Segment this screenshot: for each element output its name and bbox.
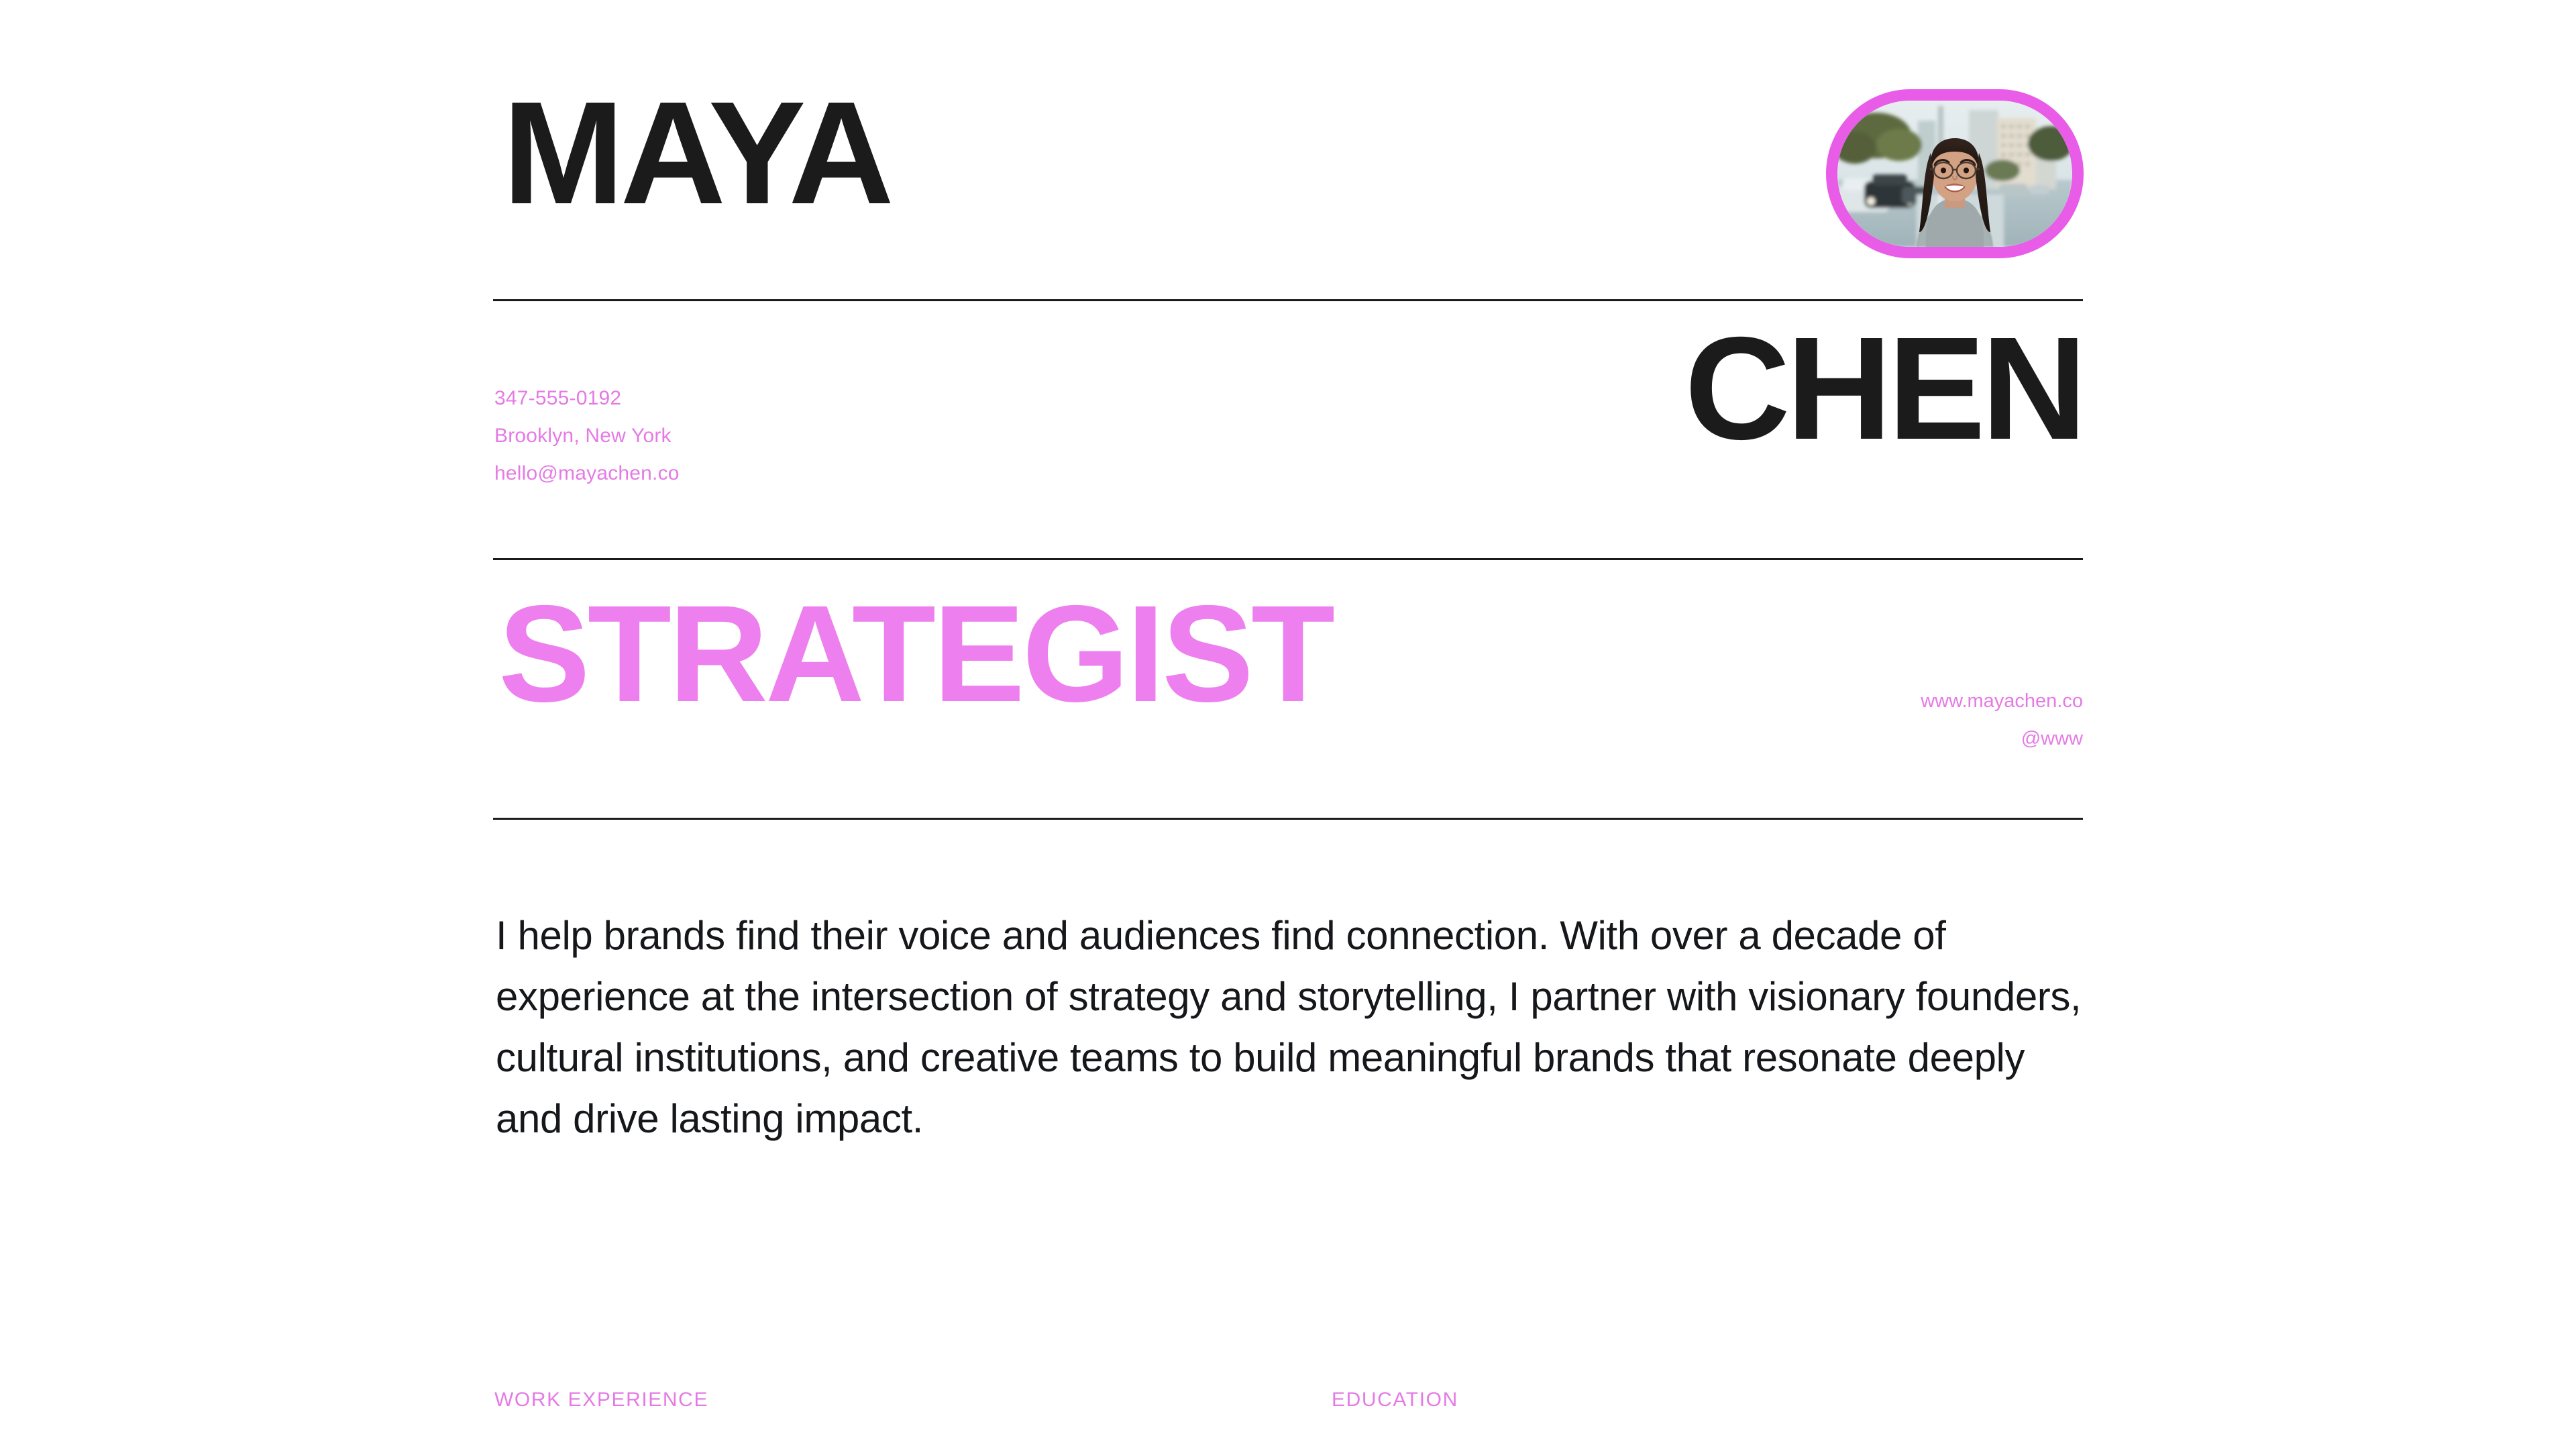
contact-list: 347-555-0192 Brooklyn, New York hello@ma…: [494, 380, 680, 492]
role-row: STRATEGIST www.mayachen.co @www: [493, 558, 2083, 818]
avatar: [1826, 89, 2084, 258]
contact-row: 347-555-0192 Brooklyn, New York hello@ma…: [493, 299, 2083, 558]
contact-item-email[interactable]: hello@mayachen.co: [494, 455, 680, 492]
section-header-work-experience: WORK EXPERIENCE: [494, 1385, 708, 1415]
portrait-photo: [1837, 101, 2072, 247]
sections-row: WORK EXPERIENCE EDUCATION: [493, 1385, 2083, 1449]
section-header-education: EDUCATION: [1332, 1385, 1458, 1415]
link-social[interactable]: @www: [1921, 720, 2083, 757]
bio-paragraph: I help brands find their voice and audie…: [496, 905, 2086, 1149]
header-top-row: MAYA: [493, 80, 2083, 282]
contact-item-location[interactable]: Brooklyn, New York: [494, 417, 680, 455]
links-list: www.mayachen.co @www: [1921, 682, 2083, 757]
divider-3: [493, 818, 2083, 820]
portrait-photo-illustration: [1837, 101, 2072, 247]
contact-item-phone[interactable]: 347-555-0192: [494, 380, 680, 417]
first-name-heading: MAYA: [502, 80, 890, 227]
link-website[interactable]: www.mayachen.co: [1921, 682, 2083, 720]
last-name-heading: CHEN: [1684, 316, 2083, 462]
role-heading: STRATEGIST: [498, 585, 1332, 722]
resume-page: MAYA: [493, 0, 2083, 1449]
